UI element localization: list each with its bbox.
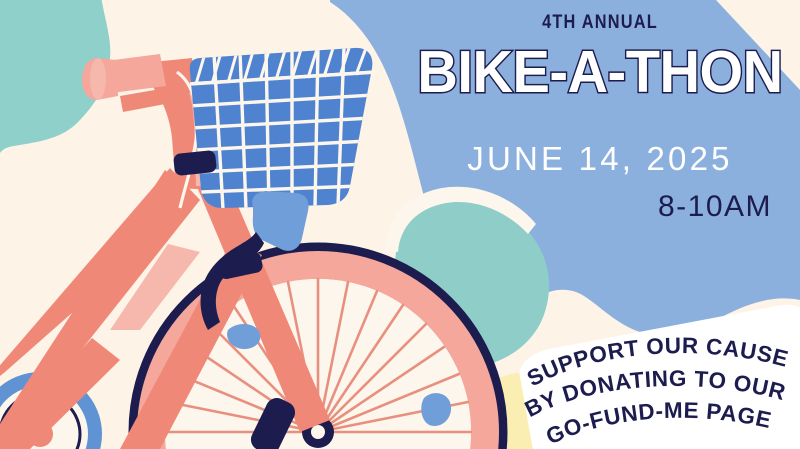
handlebar-grip-cap-shape <box>90 58 106 100</box>
wheel-hub-center-shape <box>311 425 325 439</box>
poster-canvas: 4TH ANNUAL BIKE-A-THON JUNE 14, 2025 8-1… <box>0 0 800 449</box>
basket <box>186 45 376 209</box>
bicycle-illustration-layer <box>0 0 800 449</box>
clamp-upper-shape <box>173 150 217 176</box>
